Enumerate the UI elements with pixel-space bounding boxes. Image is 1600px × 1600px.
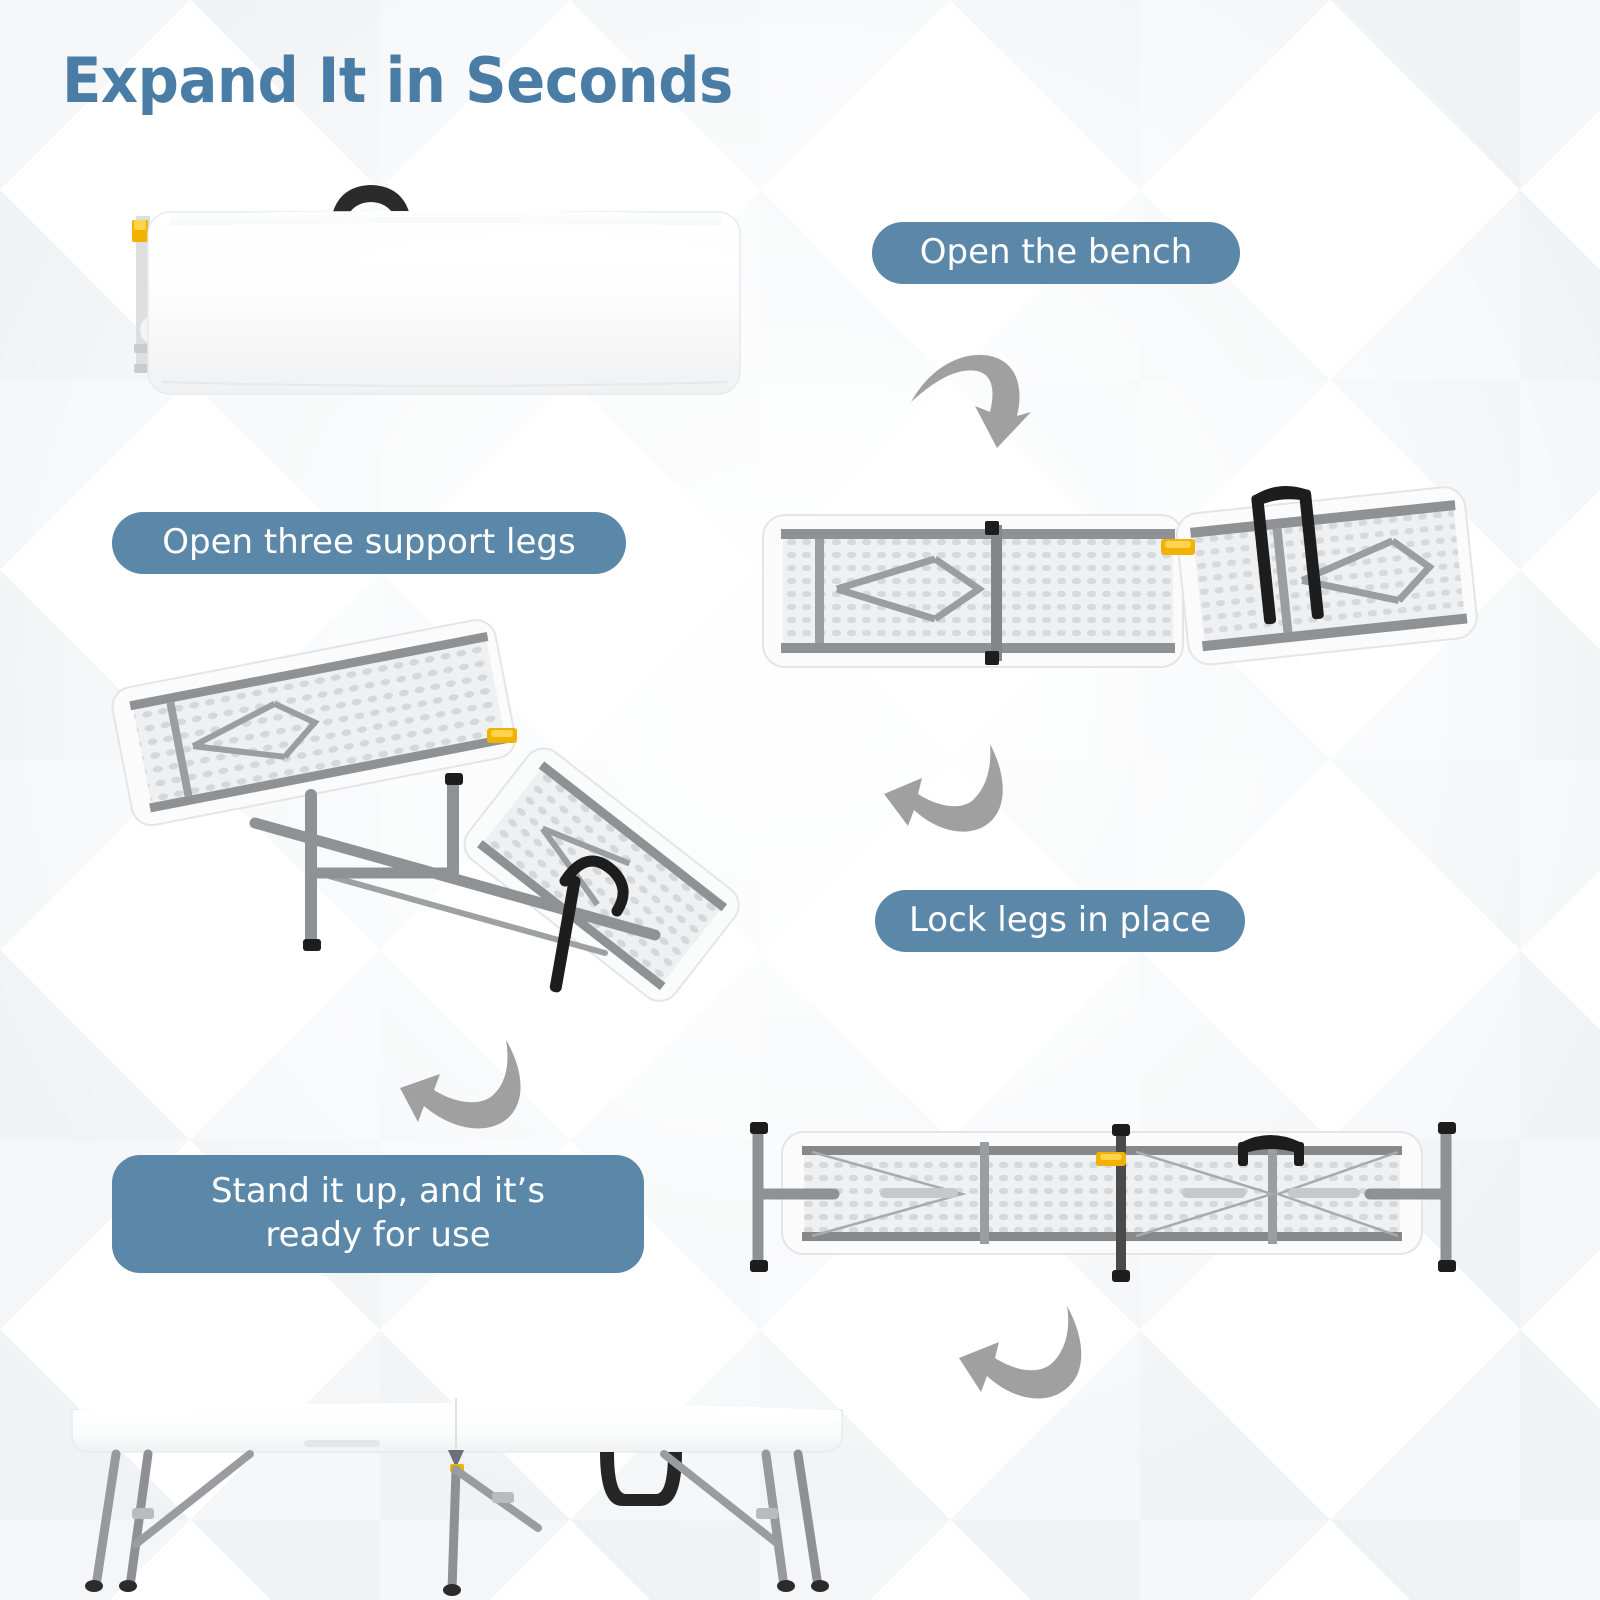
image-bench-legs-locked-flat <box>712 1108 1490 1298</box>
label-step-2: Open three support legs <box>112 512 626 574</box>
arrow-step-3-to-4 <box>400 1032 540 1144</box>
image-bench-legs-extended-angled <box>135 635 755 1030</box>
arrow-step-4-to-5 <box>955 1296 1103 1414</box>
infographic-canvas: Expand It in Seconds <box>0 0 1600 1600</box>
arrow-step-1-to-2 <box>893 340 1033 452</box>
label-step-4-text: Stand it up, and it’s ready for use <box>211 1170 545 1257</box>
label-step-3: Lock legs in place <box>875 890 1245 952</box>
image-bench-unfolded-underside <box>755 485 1470 700</box>
label-step-4: Stand it up, and it’s ready for use <box>112 1155 644 1273</box>
image-bench-upright-ready <box>52 1318 862 1598</box>
arrow-step-2-to-3 <box>878 738 1026 848</box>
page-title: Expand It in Seconds <box>62 48 733 114</box>
image-bench-folded-closed <box>128 168 748 408</box>
label-step-1: Open the bench <box>872 222 1240 284</box>
